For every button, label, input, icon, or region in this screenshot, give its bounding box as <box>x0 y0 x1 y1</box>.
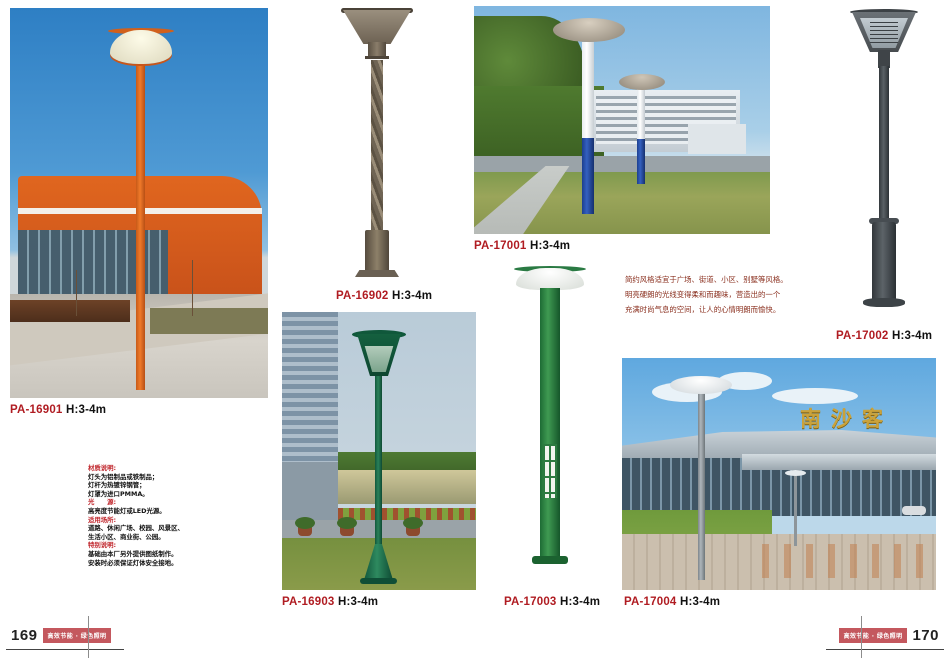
lamp-shade-dome <box>670 376 732 394</box>
spec-place-line-1: 道路、休闲广场、校园、风景区、 <box>88 524 184 533</box>
product-height: H:3-4m <box>392 290 432 302</box>
lamp-pole-orange <box>136 60 145 390</box>
lamp-pole-blue-lower <box>582 138 594 214</box>
planter-shrub <box>337 517 357 529</box>
spine-mark-left <box>88 616 89 658</box>
product-photo-pa-16901 <box>10 8 268 398</box>
bare-tree <box>76 270 77 316</box>
lamp-foot-plate <box>360 578 397 584</box>
product-height: H:3-4m <box>338 596 378 608</box>
spec-material-line-1: 灯头为铝制品或铁制品； <box>88 473 184 482</box>
blurb-line-3: 充满时尚气息的空间，让人的心情明朗而愉快。 <box>625 302 840 317</box>
lamp-shade-saucer <box>553 18 625 42</box>
lamp-shade-dome-far <box>785 470 806 476</box>
lamp-pole-bronze <box>371 60 383 230</box>
spec-note-line-2: 安装时必须保证灯体安全接地。 <box>88 559 184 568</box>
lamp-shade-saucer-far <box>619 74 665 90</box>
lamp-pole-blue-lower-far <box>637 139 645 184</box>
sign-char-2: 沙 <box>831 403 852 433</box>
spec-material-line-2: 灯杆为热镀锌钢管； <box>88 481 184 490</box>
canopy-roof <box>742 454 936 470</box>
product-height: H:3-4m <box>680 596 720 608</box>
caption-pa-17002: PA-17002 H:3-4m <box>836 330 932 342</box>
lamp-pole-dark <box>879 66 889 224</box>
page-number-left: 169 <box>6 627 43 644</box>
product-photo-pa-16903 <box>282 312 476 590</box>
caption-pa-16902: PA-16902 H:3-4m <box>336 290 432 302</box>
planter-shrub <box>295 517 315 529</box>
product-code: PA-17001 <box>474 240 527 252</box>
footer-rule-left <box>6 649 124 650</box>
bare-tree <box>192 260 193 316</box>
sign-char-3: 客 <box>862 403 883 433</box>
tagline-badge-right: 高效节能 · 绿色照明 <box>839 628 908 643</box>
spec-material-heading: 材质说明: <box>88 464 184 473</box>
lamp-foot-plate <box>863 298 905 307</box>
lamp-collar <box>365 56 389 59</box>
lamp-pole-grey-far <box>794 474 797 546</box>
product-code: PA-17003 <box>504 596 557 608</box>
spec-note-line-1: 基础由本厂另外提供图纸制作。 <box>88 550 184 559</box>
spec-source-line-1: 高亮度节能灯或LED光源。 <box>88 507 184 516</box>
footer-left: 169 高效节能 · 绿色照明 <box>6 627 111 644</box>
product-photo-pa-17002 <box>830 4 936 322</box>
caption-pa-17001: PA-17001 H:3-4m <box>474 240 570 252</box>
lamp-shade-louvers <box>870 22 898 46</box>
product-photo-pa-17003 <box>498 258 602 590</box>
spec-note-heading: 特别说明: <box>88 541 184 550</box>
paved-plaza <box>622 534 936 590</box>
terminal-signage: 南 沙 客 <box>800 402 930 434</box>
lamp-base <box>365 230 389 272</box>
product-code: PA-16901 <box>10 404 63 416</box>
hedge-row <box>10 300 130 322</box>
lamp-base <box>872 222 896 300</box>
product-photo-pa-17004: 南 沙 客 <box>622 358 936 590</box>
spec-source-heading: 光 源: <box>88 498 184 507</box>
lamp-foot-plate <box>355 270 399 277</box>
caption-pa-17003: PA-17003 H:3-4m <box>504 596 600 608</box>
product-photo-pa-17001 <box>474 6 770 234</box>
building-glass-facade <box>18 230 168 296</box>
tower-base <box>282 462 338 522</box>
specification-block: 材质说明: 灯头为铝制品或铁制品； 灯杆为热镀锌钢管； 灯罩为进口PMMA。 光… <box>88 464 184 567</box>
lamp-shade-dome <box>110 30 172 64</box>
secondary-building <box>688 124 746 154</box>
product-photo-pa-16902 <box>330 4 424 284</box>
lamp-shade-dome <box>516 268 584 290</box>
product-code: PA-17004 <box>624 596 677 608</box>
grass-strip <box>150 308 268 334</box>
blurb-line-2: 明亮硬朗的光线变得柔和而趣味，营造出的一个 <box>625 287 840 302</box>
product-code: PA-16902 <box>336 290 389 302</box>
sign-char-1: 南 <box>800 403 821 433</box>
marketing-description: 简约风格适宜于广场、街道、小区、别墅等风格。 明亮硬朗的光线变得柔和而趣味，营造… <box>625 272 840 317</box>
spec-place-heading: 适用场所: <box>88 516 184 525</box>
pergola <box>338 470 476 504</box>
lamp-foot-plate <box>532 556 568 564</box>
catalog-page: PA-16901 H:3-4m PA-16902 H:3-4m PA-17001… <box>0 0 950 654</box>
product-height: H:3-4m <box>530 240 570 252</box>
caption-pa-16901: PA-16901 H:3-4m <box>10 404 106 416</box>
lamp-pole-green-cylinder <box>540 288 560 560</box>
planter-shrub <box>403 517 423 529</box>
glass-tower <box>282 312 338 472</box>
tagline-badge-left: 高效节能 · 绿色照明 <box>43 628 112 643</box>
blurb-line-1: 简约风格适宜于广场、街道、小区、别墅等风格。 <box>625 272 840 287</box>
product-height: H:3-4m <box>560 596 600 608</box>
caption-pa-17004: PA-17004 H:3-4m <box>624 596 720 608</box>
parked-car <box>902 506 926 515</box>
footer-rule-right <box>826 649 944 650</box>
spine-mark-right <box>861 616 862 658</box>
product-height: H:3-4m <box>66 404 106 416</box>
footer-right: 高效节能 · 绿色照明 170 <box>839 627 944 644</box>
lamp-pole-grey <box>698 390 705 580</box>
pole-window-panel <box>543 444 557 498</box>
lamp-shade-cone <box>343 10 411 44</box>
product-code: PA-16903 <box>282 596 335 608</box>
caption-pa-16903: PA-16903 H:3-4m <box>282 596 378 608</box>
page-number-right: 170 <box>907 627 944 644</box>
product-code: PA-17002 <box>836 330 889 342</box>
product-height: H:3-4m <box>892 330 932 342</box>
lamp-pole-green <box>375 374 382 554</box>
